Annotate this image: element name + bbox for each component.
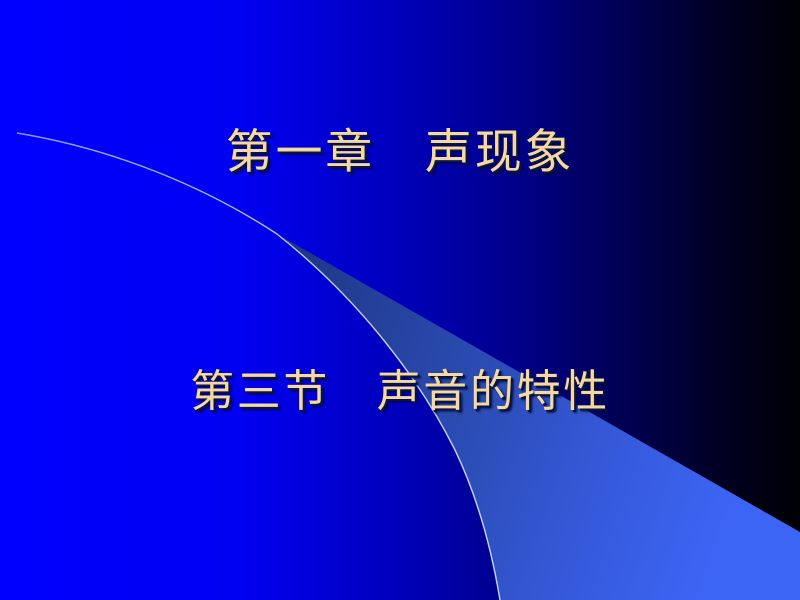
presentation-slide: 第一章 声现象 第三节 声音的特性	[0, 0, 800, 600]
page-title: 第一章 声现象	[0, 124, 800, 182]
section-subtitle: 第三节 声音的特性	[0, 364, 800, 420]
slide-background-graphic	[0, 0, 800, 600]
